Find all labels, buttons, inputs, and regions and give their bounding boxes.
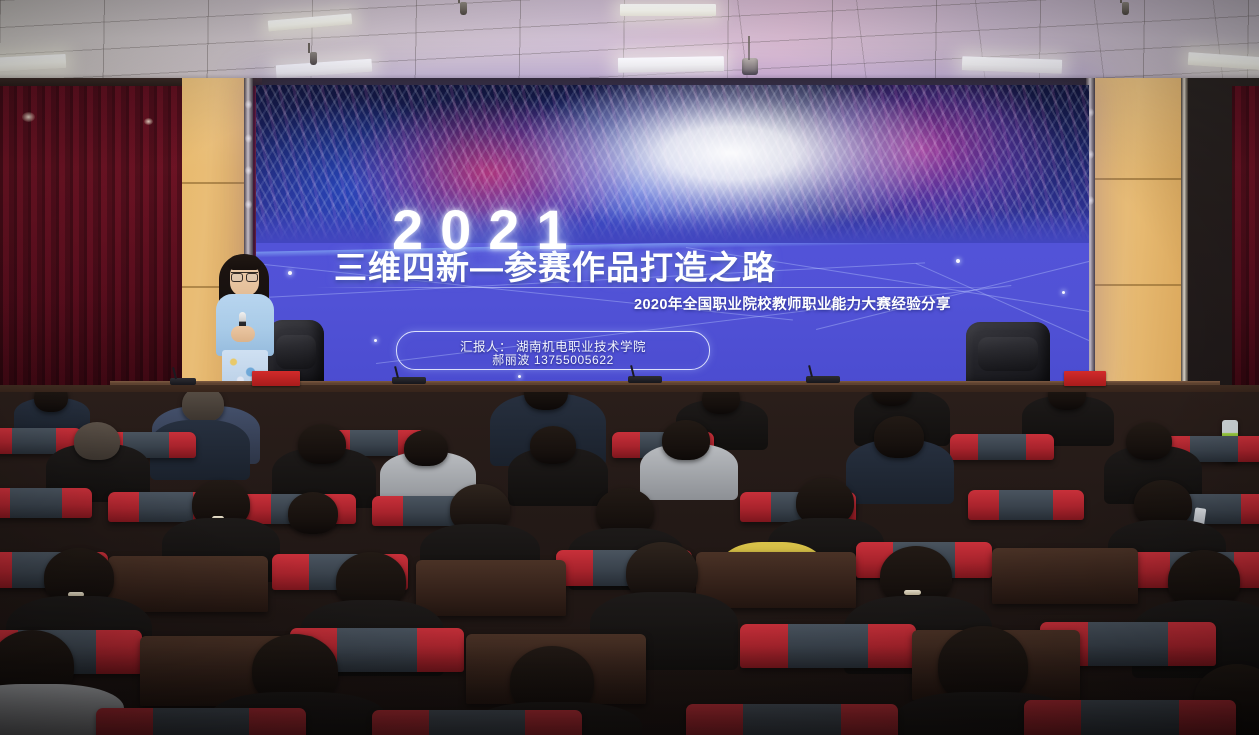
seat-side-pad — [612, 432, 640, 458]
constellation-dot — [518, 375, 521, 378]
slide-divider — [316, 287, 1016, 288]
curtain-highlight — [144, 118, 153, 125]
desk-microphone-icon — [628, 376, 662, 383]
seat-center-pad — [139, 492, 192, 522]
seat-center-pad — [978, 434, 1026, 460]
wall-pillar-right — [1095, 78, 1181, 390]
seat-side-pad — [0, 488, 10, 518]
nameplate — [252, 371, 300, 386]
auditorium-seat — [740, 624, 916, 668]
presenter-hands — [231, 326, 255, 342]
desk-microphone-icon — [170, 378, 196, 385]
pillar-seam — [1095, 284, 1181, 286]
glasses-icon — [231, 272, 258, 281]
auditorium-seat-back — [696, 552, 856, 608]
pillar-seam — [1095, 178, 1181, 180]
audience-head — [34, 392, 68, 412]
auditorium-seat-back — [992, 548, 1138, 604]
trim-highlight — [245, 166, 252, 175]
seat-side-pad — [1238, 436, 1259, 462]
presenter-info-box: 汇报人： 湖南机电职业技术学院 郝丽波 13755005622 — [396, 331, 710, 370]
audience-head — [74, 422, 120, 460]
seat-center-pad — [337, 628, 417, 672]
constellation-dot — [288, 271, 292, 275]
presenter-fringe — [228, 255, 261, 270]
seat-side-pad — [686, 704, 743, 735]
seat-side-pad — [1179, 700, 1236, 735]
ceiling-hanger — [748, 36, 750, 60]
stage-chair-right — [966, 322, 1050, 388]
seat-side-pad — [841, 704, 898, 735]
auditorium-seat — [686, 704, 898, 735]
seat-center-pad — [12, 428, 56, 454]
seat-side-pad — [1053, 490, 1084, 520]
audience-head — [182, 392, 224, 422]
seat-center-pad — [10, 488, 62, 518]
seat-side-pad — [1024, 700, 1081, 735]
seat-side-pad — [950, 434, 978, 460]
pillar-trim-right-outer — [1181, 78, 1188, 390]
seat-side-pad — [955, 542, 992, 578]
audience-area — [0, 392, 1259, 735]
conference-hall-scene: 2021 三维四新—参赛作品打造之路 2020年全国职业院校教师职业能力大赛经验… — [0, 0, 1259, 735]
sprinkler-head-icon — [460, 2, 467, 15]
audience-head — [404, 430, 448, 466]
stage-curtain-right — [1232, 86, 1259, 408]
seat-side-pad — [372, 496, 403, 526]
trim-highlight — [245, 134, 252, 143]
trim-highlight — [245, 100, 252, 109]
seat-side-pad — [0, 552, 12, 588]
seat-side-pad — [868, 624, 916, 668]
seat-side-pad — [1168, 622, 1216, 666]
seat-side-pad — [62, 488, 92, 518]
seat-center-pad — [743, 704, 841, 735]
constellation-dot — [956, 259, 960, 263]
ceiling-light-panel — [618, 56, 724, 73]
seat-side-pad — [372, 710, 429, 735]
hair-tie — [904, 590, 921, 595]
presenter-name-phone: 郝丽波 13755005622 — [397, 351, 709, 368]
audience-head — [702, 392, 740, 414]
seat-side-pad — [968, 490, 999, 520]
slide-subtitle: 2020年全国职业院校教师职业能力大赛经验分享 — [634, 293, 951, 314]
seat-side-pad — [740, 624, 788, 668]
auditorium-seat — [0, 488, 92, 518]
presenter-figure — [206, 250, 282, 390]
auditorium-seat — [1024, 700, 1236, 735]
desk-microphone-icon — [806, 376, 840, 383]
seat-center-pad — [429, 710, 526, 735]
seat-side-pad — [96, 630, 142, 674]
audience-head — [288, 492, 338, 534]
ceiling-light-panel — [620, 4, 716, 16]
auditorium-seat — [968, 490, 1084, 520]
seat-center-pad — [788, 624, 869, 668]
pillar-seam — [182, 182, 244, 184]
auditorium-seat — [96, 708, 306, 735]
seat-side-pad — [1241, 494, 1259, 524]
seat-side-pad — [740, 492, 771, 522]
seat-side-pad — [1026, 434, 1054, 460]
seat-side-pad — [417, 628, 464, 672]
seat-center-pad — [153, 708, 250, 735]
seat-center-pad — [1088, 622, 1169, 666]
desk-microphone-icon — [392, 377, 426, 384]
audience-head — [662, 420, 710, 460]
seat-center-pad — [999, 490, 1052, 520]
seat-center-pad — [403, 496, 456, 526]
seat-side-pad — [96, 708, 153, 735]
auditorium-seat-back — [416, 560, 566, 616]
curtain-highlight — [22, 112, 35, 122]
audience-head — [530, 426, 576, 464]
seat-side-pad — [525, 710, 582, 735]
audience-head — [298, 424, 346, 464]
seat-side-pad — [249, 708, 306, 735]
constellation-dot — [374, 339, 377, 342]
led-stage-screen: 2021 三维四新—参赛作品打造之路 2020年全国职业院校教师职业能力大赛经验… — [256, 85, 1089, 388]
auditorium-seat — [372, 710, 582, 735]
trim-highlight — [245, 200, 252, 209]
audience-head — [874, 416, 924, 458]
auditorium-seat — [950, 434, 1054, 460]
abstract-burst-graphic — [256, 85, 1089, 255]
sprinkler-head-icon — [1122, 2, 1129, 15]
constellation-dot — [1062, 291, 1065, 294]
seat-side-pad — [108, 492, 139, 522]
seat-side-pad — [272, 554, 309, 590]
nameplate — [1064, 371, 1106, 386]
year-heading: 2021 — [392, 197, 585, 262]
seat-side-pad — [169, 432, 196, 458]
sprinkler-head-icon — [742, 58, 758, 75]
slide-lower-panel: 三维四新—参赛作品打造之路 2020年全国职业院校教师职业能力大赛经验分享 汇报… — [256, 243, 1089, 388]
sprinkler-head-icon — [310, 52, 317, 65]
seat-side-pad — [0, 428, 12, 454]
seat-center-pad — [1081, 700, 1179, 735]
audience-head — [1126, 422, 1172, 460]
